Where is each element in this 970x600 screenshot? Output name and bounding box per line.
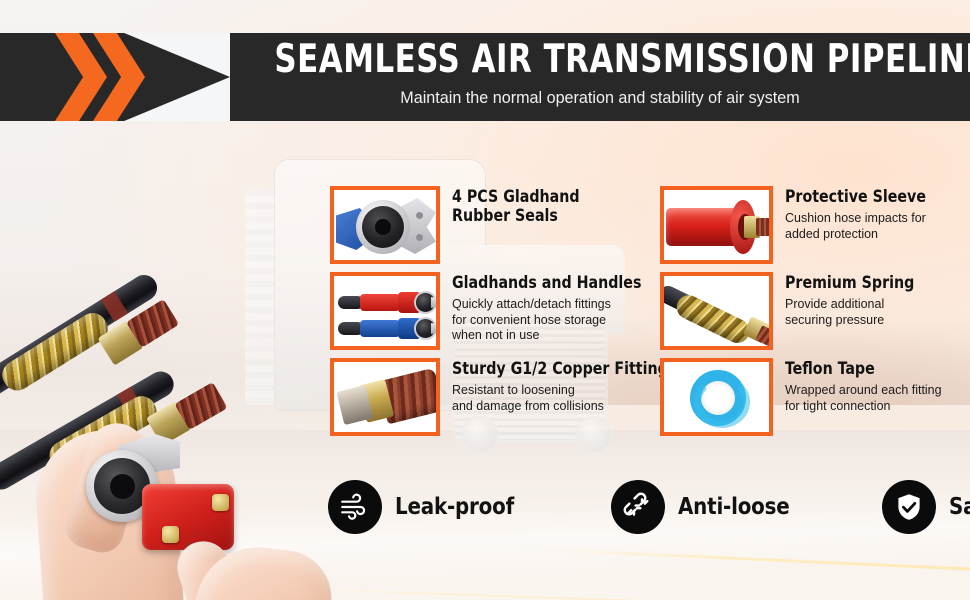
- badge-leak-proof: Leak-proof: [328, 480, 519, 534]
- shield-check-icon: [882, 480, 936, 534]
- badge-safe-to-use: Safe to Use: [882, 480, 970, 534]
- feature-text: Sturdy G1/2 Copper Fitting Resistant to …: [452, 358, 684, 413]
- page-subtitle: Maintain the normal operation and stabil…: [249, 87, 952, 109]
- feature-column-right: Protective Sleeve Cushion hose impacts f…: [660, 186, 970, 444]
- feature-text: Protective Sleeve Cushion hose impacts f…: [785, 186, 937, 241]
- page-title: SEAMLESS AIR TRANSMISSION PIPELINE: [274, 39, 925, 81]
- feature-text: Teflon Tape Wrapped around each fitting …: [785, 358, 948, 413]
- feature-item: Gladhands and Handles Quickly attach/det…: [330, 272, 650, 350]
- broken-chain-link-icon: [611, 480, 665, 534]
- feature-desc: Resistant to loosening and damage from c…: [452, 382, 675, 413]
- wind-airflow-icon: [328, 480, 382, 534]
- badge-anti-loose: Anti-loose: [611, 480, 794, 534]
- feature-title: Premium Spring: [785, 274, 914, 293]
- feature-title: Teflon Tape: [785, 360, 937, 379]
- gladhand-port: [110, 474, 135, 499]
- feature-item: Premium Spring Provide additional securi…: [660, 272, 970, 350]
- double-chevron-right-icon: [55, 33, 107, 121]
- feature-item: Sturdy G1/2 Copper Fitting Resistant to …: [330, 358, 650, 436]
- badge-label: Anti-loose: [678, 494, 790, 520]
- product-infographic: SEAMLESS AIR TRANSMISSION PIPELINE Maint…: [0, 0, 970, 600]
- feature-desc: Quickly attach/detach fittings for conve…: [452, 296, 648, 343]
- banner-text-block: SEAMLESS AIR TRANSMISSION PIPELINE Maint…: [230, 33, 970, 121]
- badge-label: Leak-proof: [395, 494, 514, 520]
- feature-image-copper-fitting: [330, 358, 440, 436]
- feature-desc: Wrapped around each fitting for tight co…: [785, 382, 942, 413]
- feature-text: Premium Spring Provide additional securi…: [785, 272, 924, 327]
- benefit-badges: Leak-proof Anti-loose Safe to Use: [328, 478, 938, 536]
- feature-desc: Provide additional securing pressure: [785, 296, 918, 327]
- feature-title: 4 PCS Gladhand Rubber Seals: [452, 188, 638, 226]
- product-photo: [0, 130, 330, 600]
- feature-item: Protective Sleeve Cushion hose impacts f…: [660, 186, 970, 264]
- feature-title: Protective Sleeve: [785, 188, 926, 207]
- feature-column-left: 4 PCS Gladhand Rubber Seals Gladhands an…: [330, 186, 650, 444]
- feature-image-protective-sleeve: [660, 186, 773, 264]
- feature-image-gladhand-rubber-seals: [330, 186, 440, 264]
- feature-image-gladhands-and-handles: [330, 272, 440, 350]
- feature-title: Sturdy G1/2 Copper Fitting: [452, 360, 668, 379]
- feature-title: Gladhands and Handles: [452, 274, 641, 293]
- header-banner: SEAMLESS AIR TRANSMISSION PIPELINE Maint…: [0, 33, 970, 121]
- gladhand-bolt-2: [162, 526, 179, 543]
- feature-item: Teflon Tape Wrapped around each fitting …: [660, 358, 970, 436]
- badge-label: Safe to Use: [949, 494, 970, 520]
- gladhand-bolt-1: [212, 494, 229, 511]
- feature-desc: Cushion hose impacts for added protectio…: [785, 210, 931, 241]
- feature-image-teflon-tape: [660, 358, 773, 436]
- feature-text: Gladhands and Handles Quickly attach/det…: [452, 272, 656, 343]
- feature-image-premium-spring: [660, 272, 773, 350]
- feature-item: 4 PCS Gladhand Rubber Seals: [330, 186, 650, 264]
- feature-text: 4 PCS Gladhand Rubber Seals: [452, 186, 652, 229]
